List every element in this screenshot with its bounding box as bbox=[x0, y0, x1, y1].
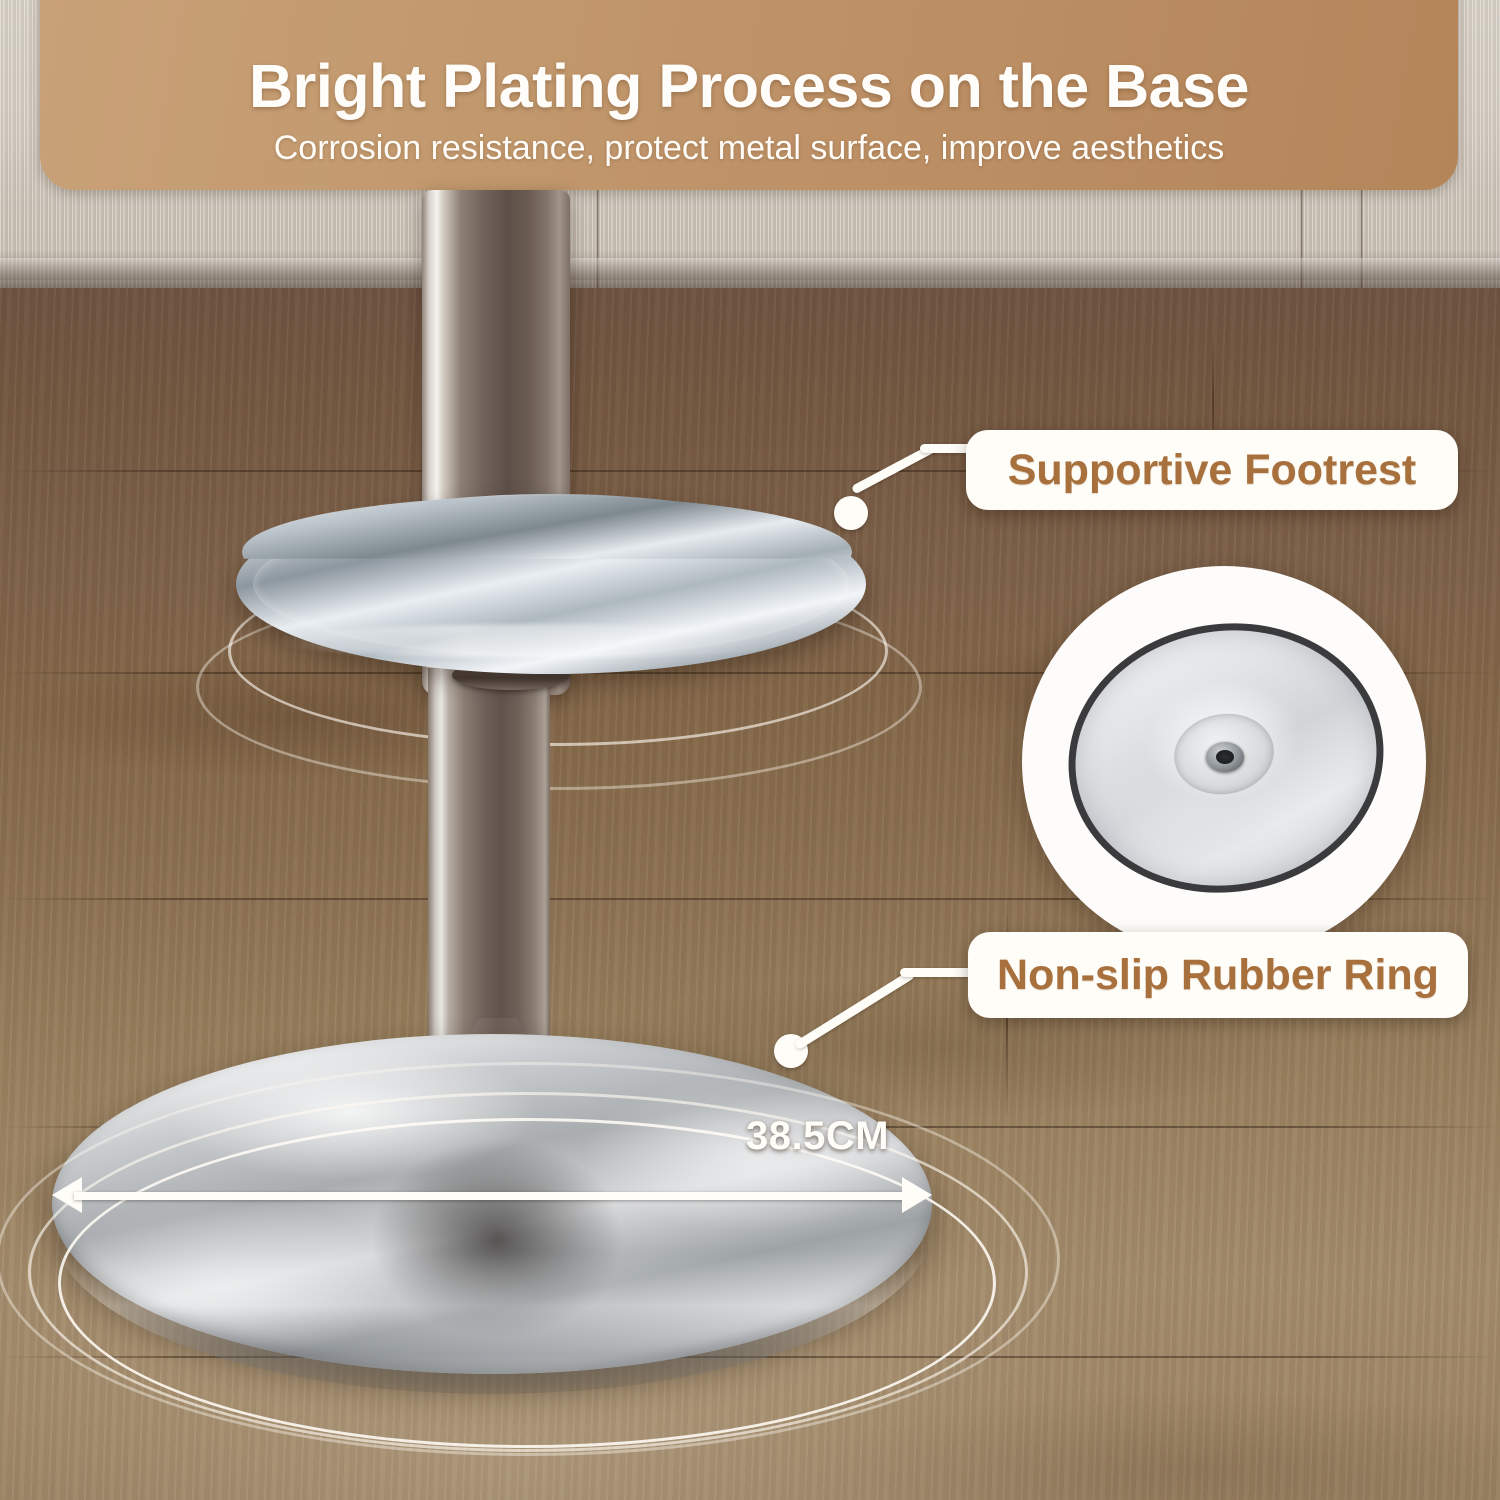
product-feature-image: Bright Plating Process on the Base Corro… bbox=[0, 0, 1500, 1500]
callout-label-non-slip-rubber-ring: Non-slip Rubber Ring bbox=[997, 951, 1439, 1000]
floor-plank-joint bbox=[690, 1128, 692, 1356]
header-banner: Bright Plating Process on the Base Corro… bbox=[40, 0, 1458, 190]
arrow-head-right bbox=[902, 1177, 932, 1213]
page-title: Bright Plating Process on the Base bbox=[249, 55, 1249, 117]
callout-pill-non-slip-rubber-ring[interactable]: Non-slip Rubber Ring bbox=[968, 932, 1468, 1018]
callout-label-supportive-footrest: Supportive Footrest bbox=[1008, 446, 1417, 495]
dimension-line bbox=[74, 1192, 910, 1200]
base-width-dimension-arrow bbox=[52, 1186, 932, 1204]
callout-dot-footrest bbox=[834, 496, 868, 530]
dimension-label: 38.5CM bbox=[746, 1114, 889, 1159]
floor-plank-seam bbox=[0, 1356, 1500, 1358]
center-bolt-socket bbox=[1216, 750, 1234, 764]
callout-pill-supportive-footrest[interactable]: Supportive Footrest bbox=[966, 430, 1458, 510]
rubber-ring-closeup-inset bbox=[1022, 566, 1426, 958]
page-subtitle: Corrosion resistance, protect metal surf… bbox=[274, 129, 1225, 168]
